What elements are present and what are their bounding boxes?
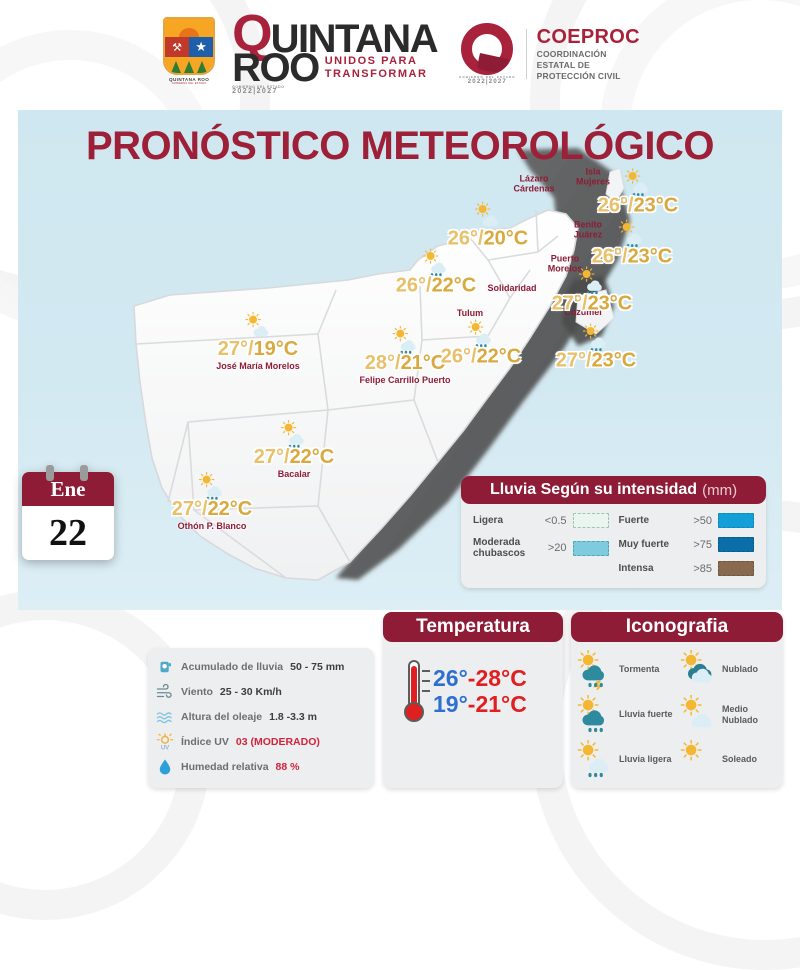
rain-intensity-legend: Lluvia Según su intensidad (mm) Ligera <… — [461, 478, 766, 588]
iconography-title: Iconografia — [571, 612, 783, 642]
coeproc-sub-2: ESTATAL DE — [537, 60, 590, 70]
soleado-icon — [678, 740, 718, 780]
rain-legend-row: Muy fuerte >75 — [619, 537, 755, 552]
humidity-icon — [156, 758, 174, 776]
condition-row: Altura del oleaje 1.8 -3.3 m — [156, 708, 366, 726]
divider — [526, 29, 527, 79]
rain-legend-value: <0.5 — [537, 515, 567, 527]
city-name: José María Morelos — [216, 362, 300, 372]
condition-row: Viento 25 - 30 Km/h — [156, 683, 366, 701]
iconography-item: MedioNublado — [678, 693, 779, 736]
condition-label: Acumulado de lluvia — [181, 661, 283, 673]
condition-label: Índice UV — [181, 736, 229, 748]
city-forecast: 27°/23°C — [556, 324, 637, 373]
waves-icon — [156, 708, 174, 726]
date-badge: Ene 22 — [22, 472, 114, 560]
wind-icon — [156, 683, 174, 701]
city-temperatures: 27°/23°C — [552, 293, 633, 316]
condition-row: UV Índice UV 03 (MODERADO) — [156, 733, 366, 751]
city-temperatures: 28°/21°C — [365, 352, 446, 375]
rain-legend-swatch — [573, 513, 609, 528]
weather-icon — [678, 695, 718, 735]
condition-label: Viento — [181, 686, 213, 698]
condition-value: 03 (MODERADO) — [236, 736, 320, 748]
city-name: Felipe Carrillo Puerto — [359, 376, 450, 386]
coeproc-logo: GOBIERNO DEL ESTADO 2022|2027 COEPROC CO… — [459, 23, 640, 85]
rain-legend-column-left: Ligera <0.5 Moderadachubascos >20 — [473, 513, 609, 576]
rain-legend-row: Moderadachubascos >20 — [473, 537, 609, 559]
calendar-ring — [80, 465, 88, 481]
city-name: Bacalar — [278, 470, 311, 480]
map-label: Tulum — [457, 308, 483, 318]
rain-legend-row: Intensa >85 — [619, 561, 755, 576]
iconography-item: Lluvia fuerte — [575, 693, 676, 736]
city-temperatures: 27°/22°C — [254, 446, 335, 469]
city-forecast: 26°/23°C — [592, 220, 673, 269]
iconography-legend: Iconografia Tormenta Nublado Lluvia fuer… — [571, 612, 783, 788]
iconography-label: Nublado — [722, 664, 758, 674]
page-title: PRONÓSTICO METEOROLÓGICO — [18, 124, 782, 169]
calendar-day: 22 — [22, 506, 114, 560]
rain-legend-swatch — [718, 561, 754, 576]
quintana-roo-wordmark: Q UINTANA ROO UNIDOS PARA TRANSFORMAR GO… — [232, 13, 437, 95]
city-temperatures: 26°/20°C — [448, 228, 529, 251]
shield-subcaption: GOBIERNO DEL ESTADO — [172, 82, 207, 85]
city-forecast: 26°/22°C — [441, 320, 522, 369]
weather-icon — [575, 650, 615, 690]
brand-tagline-1: UNIDOS PARA — [325, 55, 428, 68]
temperature-min-range: 19°-21°C — [433, 691, 527, 717]
iconography-item: Lluvia ligera — [575, 738, 676, 781]
city-forecast: 28°/21°CFelipe Carrillo Puerto — [359, 326, 450, 386]
brand-roo: ROO — [232, 52, 319, 85]
rain-legend-value: >85 — [682, 563, 712, 575]
coeproc-q-icon — [461, 23, 513, 75]
condition-value: 50 - 75 mm — [290, 661, 344, 673]
weather-icon — [678, 650, 718, 690]
city-temperatures: 27°/23°C — [556, 350, 637, 373]
city-temperatures: 26°/22°C — [396, 275, 477, 298]
uv-icon: UV — [156, 733, 174, 751]
brand-years: GOBIERNO DEL ESTADO 2022|2027 — [232, 86, 437, 95]
city-forecast: 27°/22°COthón P. Blanco — [172, 472, 253, 532]
city-forecast: 27°/22°CBacalar — [254, 420, 335, 480]
city-temperatures: 27°/19°C — [218, 338, 299, 361]
temperature-max-range: 26°-28°C — [433, 665, 527, 691]
weather-icon — [678, 740, 718, 780]
nublado-icon — [678, 650, 718, 690]
iconography-label: Tormenta — [619, 664, 659, 674]
iconography-label: Soleado — [722, 754, 757, 764]
rain-legend-column-right: Fuerte >50 Muy fuerte >75 Intensa >85 — [619, 513, 755, 576]
rain-legend-swatch — [718, 537, 754, 552]
svg-text:UV: UV — [161, 746, 169, 752]
quintana-roo-coat-of-arms-icon: QUINTANA ROO GOBIERNO DEL ESTADO — [160, 17, 218, 91]
city-temperatures: 26°/23°C — [592, 246, 673, 269]
city-temperatures: 26°/22°C — [441, 346, 522, 369]
rain-legend-value: >20 — [537, 542, 567, 554]
medio-nublado-icon — [678, 695, 718, 735]
condition-label: Altura del oleaje — [181, 711, 262, 723]
rain-legend-label: Moderadachubascos — [473, 537, 531, 559]
rain-legend-title: Lluvia Según su intensidad (mm) — [461, 476, 766, 504]
calendar-ring — [46, 465, 54, 481]
iconography-label: MedioNublado — [722, 704, 758, 725]
coeproc-title: COEPROC — [537, 26, 640, 49]
conditions-summary-panel: Acumulado de lluvia 50 - 75 mm Viento 25… — [148, 648, 374, 788]
city-forecast: 27°/23°C — [552, 267, 633, 316]
city-forecast: 26°/20°C — [448, 202, 529, 251]
city-forecast: 26°/22°C — [396, 249, 477, 298]
coeproc-sub-3: PROTECCIÓN CIVIL — [537, 71, 621, 81]
condition-row: Humedad relativa 88 % — [156, 758, 366, 776]
rain-gauge-icon — [156, 658, 174, 676]
rain-legend-row: Ligera <0.5 — [473, 513, 609, 528]
rain-legend-label: Muy fuerte — [619, 539, 677, 550]
city-forecast: 27°/19°CJosé María Morelos — [216, 312, 300, 372]
condition-value: 88 % — [276, 761, 300, 773]
header-logos: QUINTANA ROO GOBIERNO DEL ESTADO Q UINTA… — [0, 0, 800, 108]
rain-legend-label: Intensa — [619, 563, 677, 574]
tormenta-icon — [575, 650, 615, 690]
iconography-item: Tormenta — [575, 648, 676, 691]
city-temperatures: 27°/22°C — [172, 498, 253, 521]
city-name: Othón P. Blanco — [178, 522, 247, 532]
iconography-item: Nublado — [678, 648, 779, 691]
rain-legend-value: >75 — [682, 539, 712, 551]
lluvia-ligera-icon — [575, 740, 615, 780]
weather-icon — [575, 695, 615, 735]
condition-row: Acumulado de lluvia 50 - 75 mm — [156, 658, 366, 676]
city-temperatures: 26°/23°C — [598, 195, 679, 218]
condition-value: 1.8 -3.3 m — [269, 711, 317, 723]
rain-legend-unit: (mm) — [702, 482, 737, 499]
map-label: Solidaridad — [487, 283, 536, 293]
lluvia-fuerte-icon — [575, 695, 615, 735]
rain-legend-row: Fuerte >50 — [619, 513, 755, 528]
rain-legend-swatch — [573, 541, 609, 556]
rain-legend-label: Fuerte — [619, 515, 677, 526]
rain-legend-swatch — [718, 513, 754, 528]
city-forecast: 26°/23°C — [598, 169, 679, 218]
coeproc-sub-1: COORDINACIÓN — [537, 49, 607, 59]
iconography-label: Lluvia ligera — [619, 754, 672, 764]
rain-legend-label: Ligera — [473, 515, 531, 526]
brand-tagline-2: TRANSFORMAR — [325, 68, 428, 81]
weather-icon — [575, 740, 615, 780]
thermometer-icon — [401, 660, 427, 722]
map-label: LázaroCárdenas — [513, 174, 554, 195]
condition-value: 25 - 30 Km/h — [220, 686, 282, 698]
rain-legend-value: >50 — [682, 515, 712, 527]
condition-label: Humedad relativa — [181, 761, 269, 773]
iconography-label: Lluvia fuerte — [619, 709, 673, 719]
iconography-item: Soleado — [678, 738, 779, 781]
temperature-panel: Temperatura 26°-28°C 19°-21°C — [383, 612, 563, 788]
temperature-title: Temperatura — [383, 612, 563, 642]
coeproc-years: GOBIERNO DEL ESTADO 2022|2027 — [459, 75, 516, 85]
